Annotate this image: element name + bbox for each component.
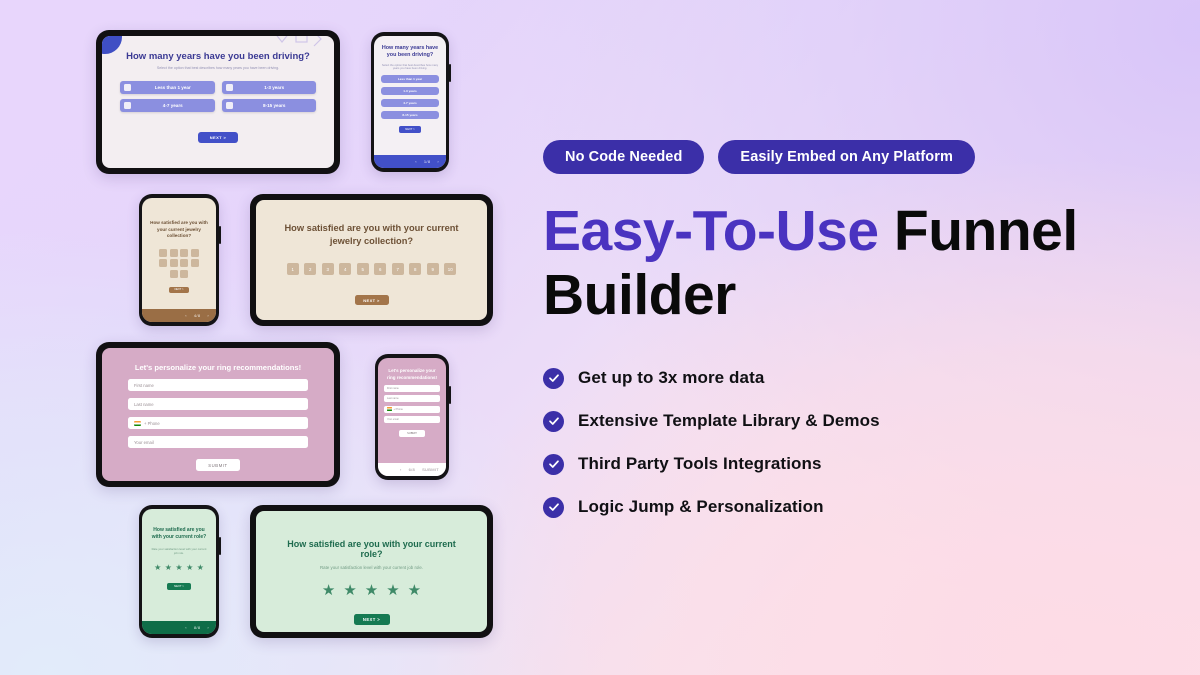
option-item[interactable]: 8-15 years (222, 99, 317, 112)
option-item[interactable]: 1-3 years (381, 87, 439, 95)
rating-cell[interactable]: 7 (392, 263, 404, 275)
option-item[interactable]: Less than 1 year (120, 81, 215, 94)
email-field[interactable]: Your email (128, 436, 308, 448)
rating-cell[interactable]: 1 (287, 263, 299, 275)
question-subtitle: Rate your satisfaction level with your c… (150, 547, 208, 555)
star-icon[interactable]: ★ (175, 564, 182, 572)
star-icon[interactable]: ★ (365, 583, 378, 598)
nav-counter: 6/8 (409, 467, 415, 472)
phone-content-ring: Let's personalize your ring recommendati… (378, 358, 446, 437)
phone-mockup-ring-form[interactable]: Let's personalize your ring recommendati… (375, 354, 449, 480)
phone-content-jewelry: How satisfied are you with your current … (142, 198, 216, 293)
star-icon[interactable]: ★ (186, 564, 193, 572)
phone-navbar: ‹ 1/8 › (374, 155, 446, 168)
nav-counter: 1/8 (424, 159, 430, 164)
option-label: 1-3 years (233, 85, 317, 90)
phone-field[interactable]: + Phone (128, 417, 308, 429)
next-button[interactable]: NEXT > (198, 132, 238, 143)
device-side-button (219, 226, 221, 244)
screen-jewelry-phone: How satisfied are you with your current … (142, 198, 216, 322)
field-placeholder: Your email (134, 440, 154, 445)
feature-label: Extensive Template Library & Demos (578, 411, 880, 431)
option-item[interactable]: 8-15 years (381, 111, 439, 119)
rating-cell[interactable] (191, 259, 199, 267)
star-icon[interactable]: ★ (343, 583, 356, 598)
field-placeholder: Last name (387, 397, 399, 400)
star-rating: ★ ★ ★ ★ ★ (276, 583, 467, 598)
feature-list: Get up to 3x more data Extensive Templat… (543, 368, 1163, 518)
option-label: 4-7 years (131, 103, 215, 108)
phone-content-driving: How many years have you been driving? Se… (374, 36, 446, 133)
option-key-icon (124, 102, 131, 109)
check-icon (543, 368, 564, 389)
last-name-field[interactable]: Last name (384, 395, 440, 402)
question-title: How satisfied are you with your current … (150, 527, 208, 542)
decor-shapes-icon (270, 36, 326, 56)
page-title: Easy-To-Use Funnel Builder (543, 200, 1163, 328)
feature-item-template-library: Extensive Template Library & Demos (543, 411, 1163, 432)
rating-cell[interactable] (180, 259, 188, 267)
check-icon (543, 497, 564, 518)
rating-cell[interactable] (159, 249, 167, 257)
nav-next-button[interactable]: SUBMIT (422, 467, 439, 472)
field-placeholder: Last name (134, 402, 154, 407)
decor-blob (102, 36, 122, 54)
field-placeholder: First name (387, 387, 399, 390)
feature-label: Third Party Tools Integrations (578, 454, 822, 474)
next-button[interactable]: NEXT > (167, 583, 191, 590)
option-item[interactable]: 4-7 years (120, 99, 215, 112)
option-list: Less than 1 year 1-3 years 4-7 years 8-1… (120, 81, 316, 112)
nav-counter: 8/8 (194, 625, 200, 630)
nav-counter: 4/8 (194, 313, 200, 318)
badge-no-code[interactable]: No Code Needed (543, 140, 704, 174)
rating-scale: 1 2 3 4 5 6 7 8 9 10 (278, 263, 465, 275)
device-mockups-panel: How many years have you been driving? Se… (0, 0, 520, 675)
phone-content-role: How satisfied are you with your current … (142, 509, 216, 590)
option-label: 8-15 years (233, 103, 317, 108)
phone-field[interactable]: + Phone (384, 406, 440, 413)
question-subtitle: Select the option that best describes ho… (120, 66, 316, 70)
screen-ring-tablet: Let's personalize your ring recommendati… (102, 348, 334, 481)
feature-label: Get up to 3x more data (578, 368, 764, 388)
field-placeholder: First name (134, 383, 154, 388)
question-title: How satisfied are you with your current … (150, 220, 208, 240)
rating-cell[interactable] (180, 249, 188, 257)
field-placeholder: + Phone (144, 421, 160, 426)
rating-cell[interactable]: 4 (339, 263, 351, 275)
option-key-icon (226, 102, 233, 109)
option-item[interactable]: 1-3 years (222, 81, 317, 94)
next-button[interactable]: NEXT > (355, 295, 389, 305)
star-icon[interactable]: ★ (322, 583, 335, 598)
phone-mockup-jewelry[interactable]: How satisfied are you with your current … (139, 194, 219, 326)
nav-prev-button[interactable]: ‹ (415, 159, 417, 164)
nav-next-button[interactable]: › (437, 159, 439, 164)
option-item[interactable]: Less than 1 year (381, 75, 439, 83)
rating-cell[interactable]: 9 (427, 263, 439, 275)
star-icon[interactable]: ★ (154, 564, 161, 572)
submit-button[interactable]: SUBMIT (196, 459, 240, 471)
phone-mockup-role[interactable]: How satisfied are you with your current … (139, 505, 219, 638)
device-side-button (449, 386, 451, 404)
option-label: Less than 1 year (131, 85, 215, 90)
option-key-icon (226, 84, 233, 91)
screen-jewelry-tablet: How satisfied are you with your current … (256, 200, 487, 320)
nav-prev-button[interactable]: ‹ (185, 625, 187, 630)
rating-cell[interactable] (170, 249, 178, 257)
form-title: Let's personalize your ring recommendati… (128, 363, 308, 372)
star-icon[interactable]: ★ (197, 564, 204, 572)
screen-role-tablet: How satisfied are you with your current … (256, 511, 487, 632)
submit-button[interactable]: SUBMIT (399, 430, 425, 437)
badge-pill-row: No Code Needed Easily Embed on Any Platf… (543, 140, 1163, 174)
rating-cell[interactable] (191, 249, 199, 257)
screen-role-phone: How satisfied are you with your current … (142, 509, 216, 634)
screen-driving-phone: How many years have you been driving? Se… (374, 36, 446, 168)
star-rating: ★ ★ ★ ★ ★ (150, 564, 208, 572)
rating-cell[interactable] (170, 259, 178, 267)
email-field[interactable]: Your email (384, 416, 440, 423)
phone-navbar: ‹ 8/8 › (142, 621, 216, 634)
feature-item-logic-jump: Logic Jump & Personalization (543, 497, 1163, 518)
nav-prev-button[interactable]: ‹ (185, 313, 187, 318)
feature-item-integrations: Third Party Tools Integrations (543, 454, 1163, 475)
option-item[interactable]: 4-7 years (381, 99, 439, 107)
option-key-icon (124, 84, 131, 91)
tablet-mockup-ring-form[interactable]: Let's personalize your ring recommendati… (96, 342, 340, 487)
rating-cell[interactable]: 6 (374, 263, 386, 275)
phone-navbar: ‹ 6/8 SUBMIT (378, 463, 446, 476)
feature-label: Logic Jump & Personalization (578, 497, 824, 517)
phone-navbar: ‹ 4/8 › (142, 309, 216, 322)
rating-cell[interactable]: 8 (409, 263, 421, 275)
nav-next-button[interactable]: › (207, 313, 209, 318)
form-title: Let's personalize your ring recommendati… (384, 368, 440, 381)
first-name-field[interactable]: First name (128, 379, 308, 391)
check-icon (543, 454, 564, 475)
rating-scale (150, 249, 208, 278)
marketing-copy-panel: No Code Needed Easily Embed on Any Platf… (543, 140, 1163, 518)
tablet-mockup-jewelry[interactable]: How satisfied are you with your current … (250, 194, 493, 326)
badge-easily-embed[interactable]: Easily Embed on Any Platform (718, 140, 975, 174)
nav-next-button[interactable]: › (207, 625, 209, 630)
question-subtitle: Rate your satisfaction level with your c… (276, 565, 467, 570)
first-name-field[interactable]: First name (384, 385, 440, 392)
tablet-mockup-role[interactable]: How satisfied are you with your current … (250, 505, 493, 638)
rating-cell[interactable] (170, 270, 178, 278)
rating-cell[interactable]: 3 (322, 263, 334, 275)
field-placeholder: Your email (387, 418, 399, 421)
star-icon[interactable]: ★ (386, 583, 399, 598)
rating-cell[interactable]: 10 (444, 263, 456, 275)
rating-cell[interactable] (180, 270, 188, 278)
screen-driving-tablet: How many years have you been driving? Se… (102, 36, 334, 168)
next-button[interactable]: NEXT > (399, 126, 421, 133)
nav-prev-button[interactable]: ‹ (400, 467, 402, 472)
next-button[interactable]: NEXT > (354, 614, 390, 625)
rating-cell[interactable]: 5 (357, 263, 369, 275)
question-title: How satisfied are you with your current … (278, 222, 465, 247)
india-flag-icon (387, 407, 392, 410)
rating-cell[interactable] (159, 259, 167, 267)
question-title: How satisfied are you with your current … (276, 539, 467, 559)
screen-ring-phone: Let's personalize your ring recommendati… (378, 358, 446, 476)
star-icon[interactable]: ★ (165, 564, 172, 572)
device-side-button (449, 64, 451, 82)
phone-mockup-driving[interactable]: How many years have you been driving? Se… (371, 32, 449, 172)
question-subtitle: Select the option that best describes ho… (381, 64, 439, 72)
last-name-field[interactable]: Last name (128, 398, 308, 410)
question-title: How many years have you been driving? (381, 45, 439, 60)
headline-accent: Easy-To-Use (543, 199, 879, 263)
india-flag-icon (134, 421, 141, 426)
check-icon (543, 411, 564, 432)
star-icon[interactable]: ★ (408, 583, 421, 598)
device-side-button (219, 537, 221, 555)
feature-item-more-data: Get up to 3x more data (543, 368, 1163, 389)
field-placeholder: + Phone (394, 408, 403, 411)
tablet-mockup-driving[interactable]: How many years have you been driving? Se… (96, 30, 340, 174)
next-button[interactable]: NEXT > (169, 287, 189, 293)
rating-cell[interactable]: 2 (304, 263, 316, 275)
